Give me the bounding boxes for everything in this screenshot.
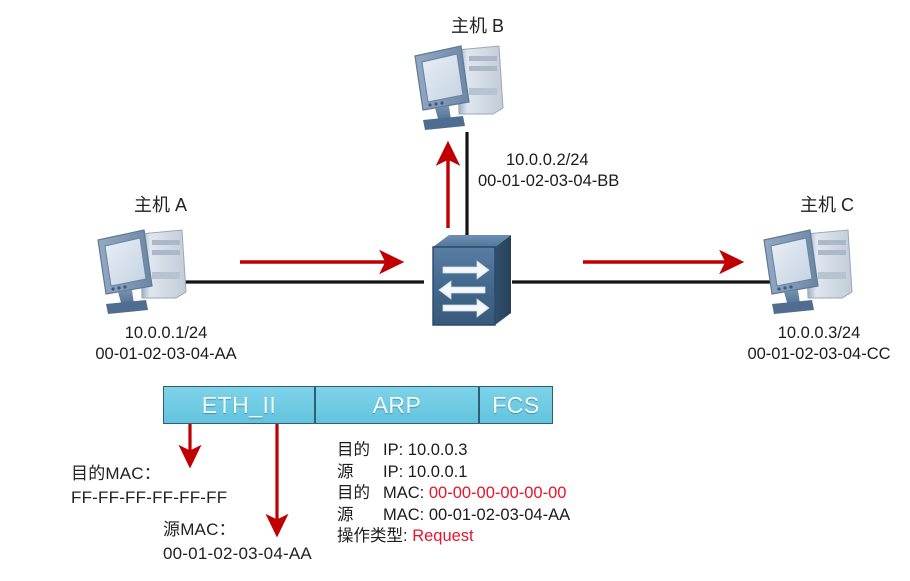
src-mac-callout: 源MAC： 00-01-02-03-04-AA <box>163 518 312 566</box>
arp-row-field: IP: <box>383 463 403 481</box>
frame-segment-arp[interactable]: ARP <box>315 386 479 424</box>
dest-mac-callout: 目的MAC： FF-FF-FF-FF-FF-FF <box>71 462 227 510</box>
arp-row-value: 00-01-02-03-04-AA <box>429 506 570 524</box>
arp-row-value: 10.0.0.1 <box>408 463 468 481</box>
arp-row-key: 源 <box>337 462 383 484</box>
host-b-address-block: 10.0.0.2/24 00-01-02-03-04-BB <box>478 150 619 192</box>
arp-detail-row: 目的MAC: 00-00-00-00-00-00 <box>337 483 570 505</box>
host-a-address-block: 10.0.0.1/24 00-01-02-03-04-AA <box>73 323 259 365</box>
host-a-mac: 00-01-02-03-04-AA <box>73 344 259 365</box>
frame-segment-fcs[interactable]: FCS <box>479 386 553 424</box>
host-a-computer-icon <box>98 230 186 314</box>
frame-segment-arp-label: ARP <box>373 392 422 419</box>
host-b-ip: 10.0.0.2/24 <box>478 150 619 171</box>
dest-mac-callout-value: FF-FF-FF-FF-FF-FF <box>71 486 227 510</box>
host-c-computer-icon <box>764 230 852 314</box>
network-diagram: 主机 A 主机 B 主机 C 10.0.0.1/24 00-01-02-03-0… <box>0 0 910 581</box>
host-b-mac: 00-01-02-03-04-BB <box>478 171 619 192</box>
arp-row-value: 10.0.0.3 <box>408 441 468 459</box>
arp-row-value-highlight: 00-00-00-00-00-00 <box>429 484 567 502</box>
frame-segment-eth-label: ETH_II <box>202 392 277 419</box>
host-c-ip: 10.0.0.3/24 <box>726 323 910 344</box>
arp-operation-key: 操作类型: <box>337 527 408 545</box>
arp-row-key: 源 <box>337 505 383 527</box>
arp-row-field: IP: <box>383 441 403 459</box>
arp-operation-value: Request <box>412 527 473 545</box>
arp-row-field: MAC: <box>383 506 424 524</box>
frame-structure-bar: ETH_II ARP FCS <box>163 386 553 424</box>
host-a-ip: 10.0.0.1/24 <box>73 323 259 344</box>
frame-segment-fcs-label: FCS <box>492 392 540 419</box>
host-c-title: 主机 C <box>800 191 854 217</box>
switch-icon <box>433 235 511 325</box>
host-c-address-block: 10.0.0.3/24 00-01-02-03-04-CC <box>726 323 910 365</box>
arp-detail-row: 源IP: 10.0.0.1 <box>337 462 570 484</box>
arp-row-key: 目的 <box>337 483 383 505</box>
arp-row-field: MAC: <box>383 484 424 502</box>
arp-detail-block: 目的IP: 10.0.0.3 源IP: 10.0.0.1 目的MAC: 00-0… <box>337 440 570 548</box>
host-b-title: 主机 B <box>451 12 504 38</box>
arp-operation-row: 操作类型: Request <box>337 526 570 548</box>
host-c-mac: 00-01-02-03-04-CC <box>726 344 910 365</box>
frame-segment-eth[interactable]: ETH_II <box>163 386 315 424</box>
host-b-computer-icon <box>415 46 503 130</box>
arp-detail-row: 目的IP: 10.0.0.3 <box>337 440 570 462</box>
arp-row-key: 目的 <box>337 440 383 462</box>
src-mac-callout-title: 源MAC： <box>163 518 312 542</box>
src-mac-callout-value: 00-01-02-03-04-AA <box>163 542 312 566</box>
arp-detail-row: 源MAC: 00-01-02-03-04-AA <box>337 505 570 527</box>
dest-mac-callout-title: 目的MAC： <box>71 462 227 486</box>
host-a-title: 主机 A <box>134 191 187 217</box>
